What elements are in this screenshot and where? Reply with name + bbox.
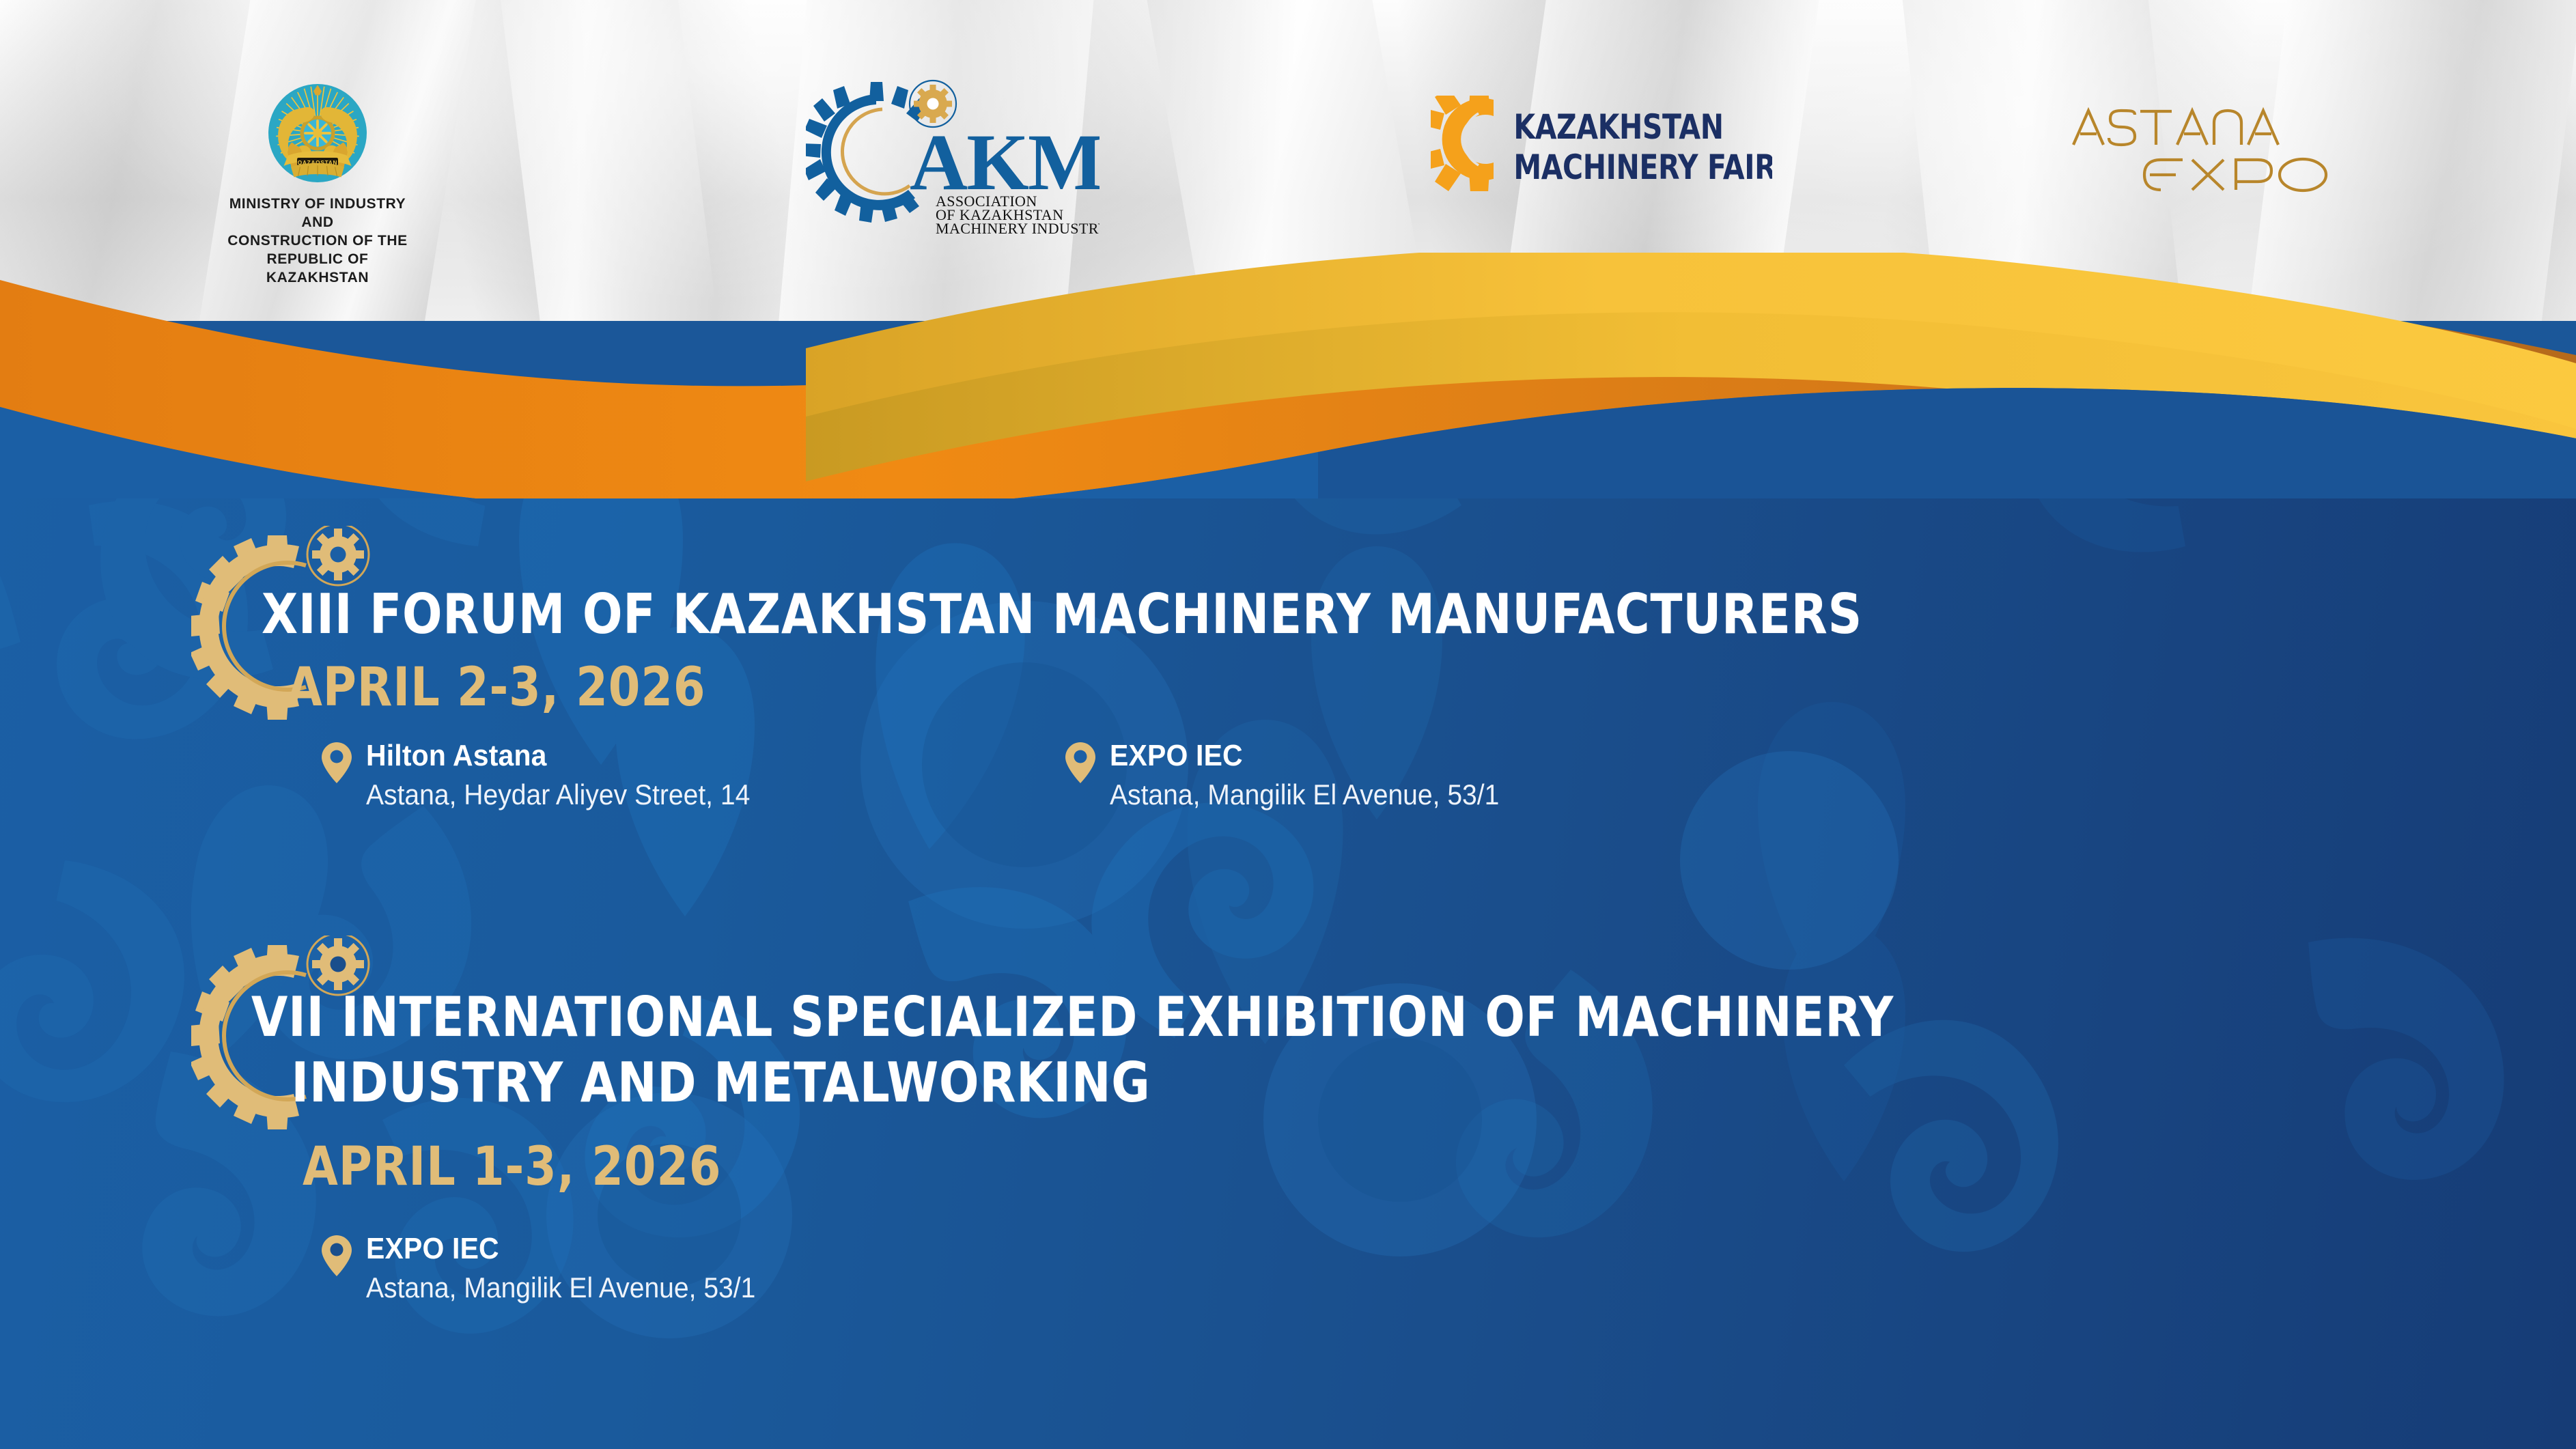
akmi-tagline-3: MACHINERY INDUSTRY xyxy=(936,220,1100,234)
event-title-line-1: VII INTERNATIONAL SPECIALIZED EXHIBITION… xyxy=(251,985,1894,1050)
map-pin-icon xyxy=(321,1235,352,1277)
event-title-line-2: INDUSTRY AND METALWORKING xyxy=(291,1050,1894,1116)
event-title-exhibition: VII INTERNATIONAL SPECIALIZED EXHIBITION… xyxy=(251,935,1894,1116)
logo-ministry-of-industry[interactable]: QAZAQSTAN MINISTRY OF INDUSTRY AND CONST… xyxy=(215,82,420,287)
venue-item[interactable]: EXPO IEC Astana, Mangilik El Avenue, 53/… xyxy=(1065,739,1528,814)
venue-text: EXPO IEC Astana, Mangilik El Avenue, 53/… xyxy=(1110,739,1528,814)
event-title-forum: XIII FORUM OF KAZAKHSTAN MACHINERY MANUF… xyxy=(262,526,1862,647)
venue-address: Astana, Mangilik El Avenue, 53/1 xyxy=(366,1269,755,1307)
map-pin-icon xyxy=(321,742,352,784)
venue-address: Astana, Mangilik El Avenue, 53/1 xyxy=(1110,776,1499,814)
ministry-line-2: CONSTRUCTION OF THE xyxy=(215,232,420,251)
venue-item[interactable]: Hilton Astana Astana, Heydar Aliyev Stre… xyxy=(321,739,779,814)
event-text-forum: XIII FORUM OF KAZAKHSTAN MACHINERY MANUF… xyxy=(191,526,2123,814)
kazakhstan-state-emblem-icon: QAZAQSTAN xyxy=(266,82,369,184)
logo-akmi[interactable]: AKMI ASSOCIATION OF KAZAKHSTAN MACHINERY… xyxy=(806,76,1100,234)
map-pin-icon xyxy=(1065,742,1096,784)
logo-astana-expo[interactable] xyxy=(2069,102,2363,198)
venue-text: EXPO IEC Astana, Mangilik El Avenue, 53/… xyxy=(366,1232,785,1307)
kmf-line-2: MACHINERY FAIR xyxy=(1513,147,1772,187)
event-block-forum: XIII FORUM OF KAZAKHSTAN MACHINERY MANUF… xyxy=(191,526,2123,814)
astana-expo-wordmark xyxy=(2073,111,2326,191)
ministry-line-1: MINISTRY OF INDUSTRY AND xyxy=(215,195,420,232)
venue-name: Hilton Astana xyxy=(366,739,750,772)
decorative-wave-divider xyxy=(0,253,2576,498)
venue-list-forum: Hilton Astana Astana, Heydar Aliyev Stre… xyxy=(321,739,2123,814)
orange-gear-icon xyxy=(1431,96,1494,191)
ministry-logo-text: MINISTRY OF INDUSTRY AND CONSTRUCTION OF… xyxy=(215,195,420,287)
ministry-line-3: REPUBLIC OF KAZAKHSTAN xyxy=(215,251,420,287)
event-date-forum: APRIL 2-3, 2026 xyxy=(287,657,1866,718)
event-title-line-1: XIII FORUM OF KAZAKHSTAN MACHINERY MANUF… xyxy=(262,582,1862,647)
venue-item[interactable]: EXPO IEC Astana, Mangilik El Avenue, 53/… xyxy=(321,1232,785,1307)
venue-text: Hilton Astana Astana, Heydar Aliyev Stre… xyxy=(366,739,779,814)
logo-kazakhstan-machinery-fair[interactable]: KAZAKHSTAN MACHINERY FAIR xyxy=(1431,96,1772,191)
event-date-exhibition: APRIL 1-3, 2026 xyxy=(303,1136,1901,1198)
kmf-line-1: KAZAKHSTAN xyxy=(1513,107,1723,147)
event-poster: QAZAQSTAN MINISTRY OF INDUSTRY AND CONST… xyxy=(0,0,2576,1449)
event-block-exhibition: VII INTERNATIONAL SPECIALIZED EXHIBITION… xyxy=(191,935,2161,1307)
event-text-exhibition: VII INTERNATIONAL SPECIALIZED EXHIBITION… xyxy=(191,935,2161,1307)
sponsor-logo-row: QAZAQSTAN MINISTRY OF INDUSTRY AND CONST… xyxy=(0,0,2576,287)
venue-name: EXPO IEC xyxy=(1110,739,1499,772)
venue-name: EXPO IEC xyxy=(366,1232,755,1265)
venue-list-exhibition: EXPO IEC Astana, Mangilik El Avenue, 53/… xyxy=(321,1232,2161,1307)
venue-address: Astana, Heydar Aliyev Street, 14 xyxy=(366,776,750,814)
